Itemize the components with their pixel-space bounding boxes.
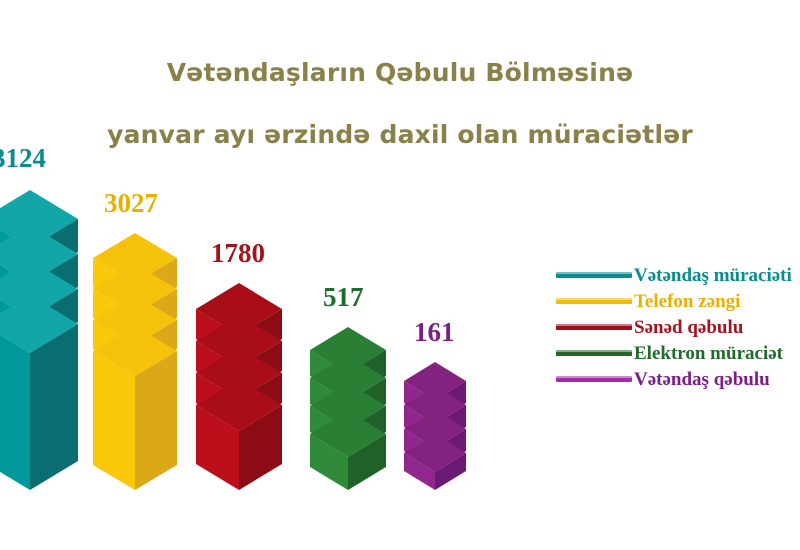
legend-swatch-line-icon: [556, 324, 632, 330]
legend-swatch-line-icon: [556, 350, 632, 356]
legend-item-label: Sənəd qəbulu: [634, 318, 743, 337]
bar-shape-telefon-zengi: [93, 233, 177, 490]
legend-swatch-line-icon: [556, 272, 632, 278]
bar-vetendas-qebulu[interactable]: [404, 362, 466, 490]
legend-item-3[interactable]: Elektron müraciət: [556, 340, 800, 366]
bar-shape-vetendas-qebulu: [404, 362, 466, 490]
bar-facet: [30, 324, 78, 490]
legend-item-1[interactable]: Telefon zəngi: [556, 288, 800, 314]
legend-swatch-line-icon: [556, 298, 632, 304]
bar-shape-vetendas-muracieti: [0, 190, 78, 490]
bar-telefon-zengi[interactable]: [93, 233, 177, 490]
legend-item-2[interactable]: Sənəd qəbulu: [556, 314, 800, 340]
chart-canvas: Vətəndaşların Qəbulu Bölməsinə yanvar ay…: [0, 0, 800, 550]
legend-item-label: Elektron müraciət: [634, 344, 783, 363]
bar-sened-qebulu[interactable]: [196, 283, 282, 490]
chart-legend: Vətəndaş müraciətiTelefon zəngiSənəd qəb…: [556, 262, 800, 392]
legend-item-label: Vətəndaş müraciəti: [634, 266, 792, 285]
bar-value-label-elektron-muraciet: 517: [323, 284, 364, 311]
bar-vetendas-muracieti[interactable]: [0, 190, 78, 490]
bars-plot-area: 312430271780517161: [0, 0, 545, 550]
bar-value-label-vetendas-muracieti: 3124: [0, 145, 46, 172]
legend-item-label: Telefon zəngi: [634, 292, 740, 311]
bar-shape-sened-qebulu: [196, 283, 282, 490]
bar-value-label-sened-qebulu: 1780: [211, 240, 265, 267]
legend-swatch-line-icon: [556, 376, 632, 382]
bar-elektron-muraciet[interactable]: [310, 327, 386, 490]
bar-value-label-vetendas-qebulu: 161: [414, 319, 455, 346]
bar-shape-elektron-muraciet: [310, 327, 386, 490]
legend-item-label: Vətəndaş qəbulu: [634, 370, 770, 389]
legend-item-4[interactable]: Vətəndaş qəbulu: [556, 366, 800, 392]
legend-item-0[interactable]: Vətəndaş müraciəti: [556, 262, 800, 288]
bar-value-label-telefon-zengi: 3027: [104, 190, 158, 217]
